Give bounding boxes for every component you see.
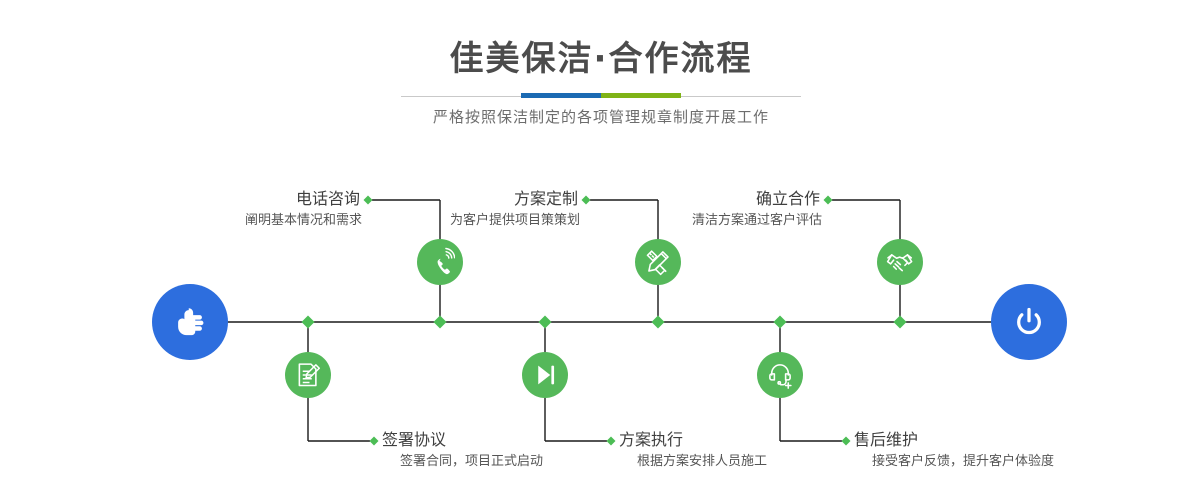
flow-node-title-3: 方案定制: [450, 188, 580, 210]
flow-node-label-6: 售后维护接受客户反馈，提升客户体验度: [854, 429, 1054, 472]
bottom-label-diamond-1: [370, 437, 379, 446]
page-header: 佳美保洁·合作流程 严格按照保洁制定的各项管理规章制度开展工作: [0, 0, 1202, 150]
flow-node-title-4: 方案执行: [619, 429, 767, 451]
flow-node-title-1: 电话咨询: [245, 188, 362, 210]
flow-node-5[interactable]: [877, 239, 923, 285]
spine-diamond-4: [652, 316, 665, 329]
end-endpoint[interactable]: [991, 284, 1067, 360]
flow-node-title-6: 售后维护: [854, 429, 1054, 451]
flow-node-title-5: 确立合作: [692, 188, 822, 210]
spine-diamond-5: [774, 316, 787, 329]
pencil-ruler-icon: [643, 247, 673, 277]
top-label-diamond-1: [364, 196, 373, 205]
flow-node-label-4: 方案执行根据方案安排人员施工: [619, 429, 767, 472]
flow-node-1[interactable]: [417, 239, 463, 285]
power-icon: [1009, 302, 1049, 342]
flow-node-label-2: 签署协议签署合同，项目正式启动: [382, 429, 543, 472]
top-label-diamond-2: [582, 196, 591, 205]
flow-node-3[interactable]: [635, 239, 681, 285]
phone-call-icon: [425, 247, 455, 277]
bottom-label-diamond-3: [842, 437, 851, 446]
flow-node-label-5: 确立合作清洁方案通过客户评估: [692, 188, 822, 231]
spine-diamond-2: [434, 316, 447, 329]
title-divider: [401, 93, 801, 99]
handshake-icon: [885, 247, 915, 277]
flow-node-desc-2: 签署合同，项目正式启动: [382, 452, 543, 472]
divider-segment-blue: [521, 93, 601, 98]
flow-node-desc-4: 根据方案安排人员施工: [619, 452, 767, 472]
spine-diamond-6: [894, 316, 907, 329]
headset-support-icon: [765, 360, 795, 390]
spine-diamond-1: [302, 316, 315, 329]
play-forward-icon: [530, 360, 560, 390]
spine-diamond-3: [539, 316, 552, 329]
flow-node-6[interactable]: [757, 352, 803, 398]
divider-segment-green: [601, 93, 681, 98]
start-endpoint[interactable]: [152, 284, 228, 360]
process-flow-diagram: 电话咨询阐明基本情况和需求签署协议签署合同，项目正式启动方案定制为客户提供项目策…: [0, 150, 1202, 502]
document-edit-icon: [293, 360, 323, 390]
page-title: 佳美保洁·合作流程: [0, 38, 1202, 80]
flow-node-desc-1: 阐明基本情况和需求: [245, 211, 362, 231]
flow-node-title-2: 签署协议: [382, 429, 543, 451]
flow-node-desc-3: 为客户提供项目策策划: [450, 211, 580, 231]
diamond-markers: [302, 196, 907, 446]
page-subtitle: 严格按照保洁制定的各项管理规章制度开展工作: [0, 106, 1202, 128]
flow-node-label-3: 方案定制为客户提供项目策策划: [450, 188, 580, 231]
top-label-diamond-3: [824, 196, 833, 205]
flow-node-2[interactable]: [285, 352, 331, 398]
pointing-hand-icon: [170, 302, 210, 342]
bottom-label-diamond-2: [607, 437, 616, 446]
flow-node-desc-6: 接受客户反馈，提升客户体验度: [854, 452, 1054, 472]
flow-node-desc-5: 清洁方案通过客户评估: [692, 211, 822, 231]
flow-node-label-1: 电话咨询阐明基本情况和需求: [245, 188, 362, 231]
flow-node-4[interactable]: [522, 352, 568, 398]
